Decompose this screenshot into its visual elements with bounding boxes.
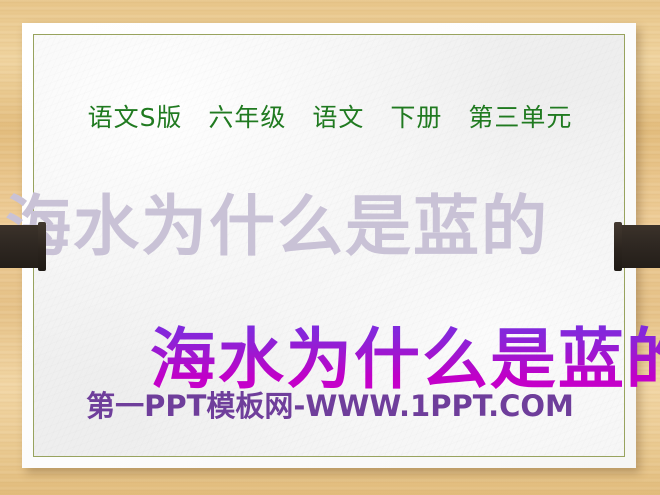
right-binder-clip-cap [614, 222, 622, 271]
right-binder-clip [620, 225, 660, 268]
main-title-block: 海水为什么是蓝的 海水为什么是蓝的 [0, 186, 660, 278]
main-title-text: 海水为什么是蓝的 [150, 321, 660, 398]
presentation-slide: 语文S版 六年级 语文 下册 第三单元 海水为什么是蓝的 海水为什么是蓝的 第一… [0, 0, 660, 495]
course-subtitle: 语文S版 六年级 语文 下册 第三单元 [0, 98, 660, 134]
main-title-shadow: 海水为什么是蓝的 [5, 192, 549, 261]
left-binder-clip [0, 225, 40, 268]
left-binder-clip-cap [38, 222, 46, 271]
main-title: 海水为什么是蓝的 海水为什么是蓝的 [0, 186, 660, 463]
